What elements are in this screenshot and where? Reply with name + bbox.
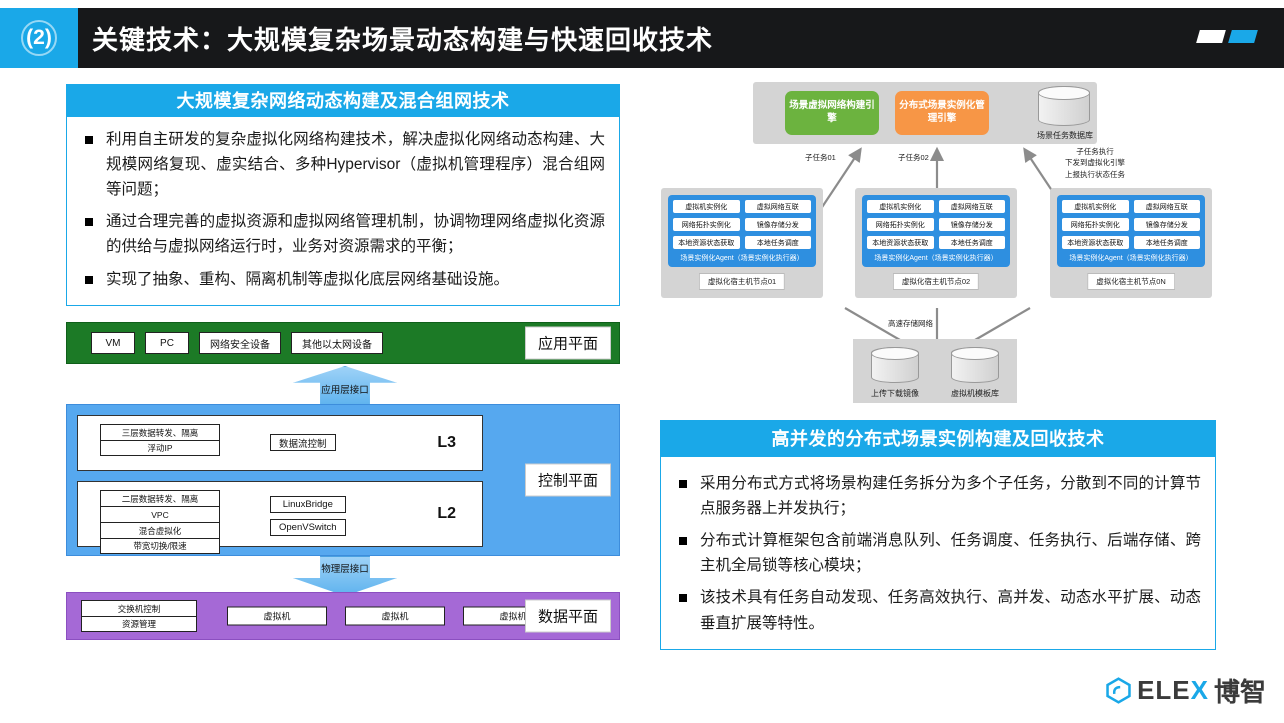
tier-label-l2: L2 xyxy=(437,505,456,523)
bullet-text: 通过合理完善的虚拟资源和虚拟网络管理机制，协调物理网络虚拟化资源的供给与虚拟网络… xyxy=(106,209,605,259)
application-plane-layer: VM PC 网络安全设备 其他以太网设备 应用平面 xyxy=(66,322,620,364)
list-item: 通过合理完善的虚拟资源和虚拟网络管理机制，协调物理网络虚拟化资源的供给与虚拟网络… xyxy=(81,209,605,259)
chip-vm-instantiation: 虚拟机实例化 xyxy=(866,199,935,214)
list-item: 该技术具有任务自动发现、任务高效执行、高并发、动态水平扩展、动态垂直扩展等特性。 xyxy=(675,585,1201,635)
chip-topology-instantiation: 网络拓扑实例化 xyxy=(672,217,741,232)
flow-label-subtask-01: 子任务01 xyxy=(805,152,836,163)
slide-root: (2) 关键技术：大规模复杂场景动态构建与快速回收技术 大规模复杂网络动态构建及… xyxy=(0,0,1284,723)
slide-number-badge: (2) xyxy=(0,8,78,68)
left-info-panel: 大规模复杂网络动态构建及混合组网技术 利用自主研发的复杂虚拟化网络构建技术，解决… xyxy=(66,84,620,306)
bullet-square-icon xyxy=(679,594,687,602)
bullet-square-icon xyxy=(679,480,687,488)
agent-label: 场景实例化Agent（场景实例化执行器） xyxy=(1061,253,1201,263)
storage-network-label: 高速存储网络 xyxy=(888,318,933,329)
tier-label-l3: L3 xyxy=(437,434,456,452)
chip-openvswitch: OpenVSwitch xyxy=(270,519,346,536)
company-logo: ELEX 博智 xyxy=(1105,672,1266,709)
list-item: 采用分布式方式将场景构建任务拆分为多个子任务，分散到不同的计算节点服务器上并发执… xyxy=(675,471,1201,521)
page-title: 关键技术：大规模复杂场景动态构建与快速回收技术 xyxy=(92,8,713,68)
decoration-white-icon xyxy=(1196,30,1226,43)
right-panel-body: 采用分布式方式将场景构建任务拆分为多个子任务，分散到不同的计算节点服务器上并发执… xyxy=(661,457,1215,651)
agent-label: 场景实例化Agent（场景实例化执行器） xyxy=(866,253,1006,263)
chip-local-resource-state: 本地资源状态获取 xyxy=(672,235,741,250)
host-node-group-0n: 虚拟机实例化 虚拟网络互联 网络拓扑实例化 镜像存储分发 本地资源状态获取 本地… xyxy=(1050,188,1212,298)
agent-card: 虚拟机实例化 虚拟网络互联 网络拓扑实例化 镜像存储分发 本地资源状态获取 本地… xyxy=(862,195,1010,267)
header-decoration xyxy=(1198,30,1256,43)
left-panel-title: 大规模复杂网络动态构建及混合组网技术 xyxy=(67,85,619,117)
bullet-square-icon xyxy=(85,218,93,226)
list-item: 分布式计算框架包含前端消息队列、任务调度、任务执行、后端存储、跨主机全局锁等核心… xyxy=(675,528,1201,578)
chip-vnet-interconnect: 虚拟网络互联 xyxy=(1133,199,1202,214)
agent-capability-grid: 虚拟机实例化 虚拟网络互联 网络拓扑实例化 镜像存储分发 本地资源状态获取 本地… xyxy=(672,199,812,250)
agent-capability-grid: 虚拟机实例化 虚拟网络互联 网络拓扑实例化 镜像存储分发 本地资源状态获取 本地… xyxy=(866,199,1006,250)
host-node-label: 虚拟化宿主机节点0N xyxy=(1087,273,1175,290)
chip-topology-instantiation: 网络拓扑实例化 xyxy=(1061,217,1130,232)
slide-number-text: (2) xyxy=(26,26,52,50)
arrow-label: 应用层接口 xyxy=(293,382,397,396)
slide-number-ring: (2) xyxy=(21,20,57,56)
physical-interface-arrow: 物理层接口 xyxy=(293,556,397,596)
elex-mark-icon xyxy=(1105,677,1132,704)
chip-pc: PC xyxy=(145,332,189,354)
l2-left-chips: 二层数据转发、隔离 VPC 混合虚拟化 带宽切换/限速 xyxy=(100,490,220,554)
chip-vnet-interconnect: 虚拟网络互联 xyxy=(744,199,813,214)
chip-linuxbridge: LinuxBridge xyxy=(270,496,346,513)
data-plane-left-chips: 交换机控制 资源管理 xyxy=(81,600,197,632)
decoration-blue-icon xyxy=(1228,30,1258,43)
bullet-text: 该技术具有任务自动发现、任务高效执行、高并发、动态水平扩展、动态垂直扩展等特性。 xyxy=(700,585,1201,635)
chip-vnet-interconnect: 虚拟网络互联 xyxy=(938,199,1007,214)
chip-local-task-schedule: 本地任务调度 xyxy=(744,235,813,250)
chip-bandwidth-limit: 带宽切换/限速 xyxy=(100,538,220,554)
list-item: 利用自主研发的复杂虚拟化网络构建技术，解决虚拟化网络动态构建、大规模网络复现、虚… xyxy=(81,127,605,202)
application-interface-arrow: 应用层接口 xyxy=(293,366,397,406)
storage-band: 上传下载镜像 虚拟机模板库 xyxy=(853,339,1017,403)
vm-template-library-label: 虚拟机模板库 xyxy=(931,388,1019,399)
bullet-text: 采用分布式方式将场景构建任务拆分为多个子任务，分散到不同的计算节点服务器上并发执… xyxy=(700,471,1201,521)
right-info-panel: 高并发的分布式场景实例构建及回收技术 采用分布式方式将场景构建任务拆分为多个子任… xyxy=(660,420,1216,650)
bullet-square-icon xyxy=(85,276,93,284)
chip-switch-control: 交换机控制 xyxy=(81,600,197,616)
chip-vm-instantiation: 虚拟机实例化 xyxy=(1061,199,1130,214)
flow-label-subtask-02: 子任务02 xyxy=(898,152,929,163)
scene-task-database-label: 场景任务数据库 xyxy=(1020,130,1110,141)
chip-floating-ip: 浮动IP xyxy=(100,440,220,456)
logo-text-cn: 博智 xyxy=(1214,672,1266,709)
chip-vm-instantiation: 虚拟机实例化 xyxy=(672,199,741,214)
control-plane-tag: 控制平面 xyxy=(525,464,611,497)
agent-card: 虚拟机实例化 虚拟网络互联 网络拓扑实例化 镜像存储分发 本地资源状态获取 本地… xyxy=(668,195,816,267)
l3-mid-chips: 数据流控制 xyxy=(270,434,336,451)
chip-l3-forward-isolate: 三层数据转发、隔离 xyxy=(100,424,220,440)
bullet-text: 实现了抽象、重构、隔离机制等虚拟化底层网络基础设施。 xyxy=(106,267,605,292)
chip-other-ethernet-device: 其他以太网设备 xyxy=(291,332,383,354)
data-plane-tag: 数据平面 xyxy=(525,600,611,633)
l2-box: 二层数据转发、隔离 VPC 混合虚拟化 带宽切换/限速 LinuxBridge … xyxy=(77,481,483,547)
chip-data-flow-control: 数据流控制 xyxy=(270,434,336,451)
scene-virtual-network-engine: 场景虚拟网络构建引擎 xyxy=(785,91,879,135)
application-plane-chips: VM PC 网络安全设备 其他以太网设备 xyxy=(91,332,383,354)
chip-local-resource-state: 本地资源状态获取 xyxy=(866,235,935,250)
right-panel-title: 高并发的分布式场景实例构建及回收技术 xyxy=(661,421,1215,457)
chip-virtual-machine: 虚拟机 xyxy=(345,607,445,626)
chip-image-distribution: 镜像存储分发 xyxy=(938,217,1007,232)
chip-image-distribution: 镜像存储分发 xyxy=(744,217,813,232)
host-node-group-02: 虚拟机实例化 虚拟网络互联 网络拓扑实例化 镜像存储分发 本地资源状态获取 本地… xyxy=(855,188,1017,298)
chip-virtual-machine: 虚拟机 xyxy=(227,607,327,626)
logo-text-elex: ELEX xyxy=(1137,675,1209,706)
chip-resource-management: 资源管理 xyxy=(81,616,197,632)
chip-vpc: VPC xyxy=(100,506,220,522)
left-panel-body: 利用自主研发的复杂虚拟化网络构建技术，解决虚拟化网络动态构建、大规模网络复现、虚… xyxy=(67,117,619,307)
agent-label: 场景实例化Agent（场景实例化执行器） xyxy=(672,253,812,263)
flow-note-right: 子任务执行 下发到虚拟化引擎 上报执行状态任务 xyxy=(1065,146,1125,180)
image-upload-download-label: 上传下载镜像 xyxy=(851,388,939,399)
l3-box: 三层数据转发、隔离 浮动IP 数据流控制 L3 xyxy=(77,415,483,471)
l3-left-chips: 三层数据转发、隔离 浮动IP xyxy=(100,424,220,456)
chip-network-security-device: 网络安全设备 xyxy=(199,332,281,354)
chip-local-task-schedule: 本地任务调度 xyxy=(938,235,1007,250)
agent-card: 虚拟机实例化 虚拟网络互联 网络拓扑实例化 镜像存储分发 本地资源状态获取 本地… xyxy=(1057,195,1205,267)
chip-local-task-schedule: 本地任务调度 xyxy=(1133,235,1202,250)
host-node-label: 虚拟化宿主机节点01 xyxy=(699,273,785,290)
l2-mid-chips: LinuxBridge OpenVSwitch xyxy=(270,496,346,536)
host-node-label: 虚拟化宿主机节点02 xyxy=(893,273,979,290)
vm-template-library-icon xyxy=(951,347,999,383)
bullet-square-icon xyxy=(679,537,687,545)
host-node-group-01: 虚拟机实例化 虚拟网络互联 网络拓扑实例化 镜像存储分发 本地资源状态获取 本地… xyxy=(661,188,823,298)
chip-image-distribution: 镜像存储分发 xyxy=(1133,217,1202,232)
chip-local-resource-state: 本地资源状态获取 xyxy=(1061,235,1130,250)
bullet-text: 利用自主研发的复杂虚拟化网络构建技术，解决虚拟化网络动态构建、大规模网络复现、虚… xyxy=(106,127,605,202)
bullet-square-icon xyxy=(85,136,93,144)
agent-capability-grid: 虚拟机实例化 虚拟网络互联 网络拓扑实例化 镜像存储分发 本地资源状态获取 本地… xyxy=(1061,199,1201,250)
list-item: 实现了抽象、重构、隔离机制等虚拟化底层网络基础设施。 xyxy=(81,267,605,292)
chip-vm: VM xyxy=(91,332,135,354)
chip-l2-forward-isolate: 二层数据转发、隔离 xyxy=(100,490,220,506)
data-plane-vm-chips: 虚拟机 虚拟机 虚拟机 xyxy=(227,607,563,626)
chip-topology-instantiation: 网络拓扑实例化 xyxy=(866,217,935,232)
bullet-text: 分布式计算框架包含前端消息队列、任务调度、任务执行、后端存储、跨主机全局锁等核心… xyxy=(700,528,1201,578)
arrow-label: 物理层接口 xyxy=(293,561,397,575)
scene-task-database-icon xyxy=(1038,86,1090,126)
chip-hybrid-virtualization: 混合虚拟化 xyxy=(100,522,220,538)
application-plane-tag: 应用平面 xyxy=(525,327,611,360)
control-plane-layer: 三层数据转发、隔离 浮动IP 数据流控制 L3 二层数据转发、隔离 VPC 混合… xyxy=(66,404,620,556)
image-upload-download-icon xyxy=(871,347,919,383)
distributed-scene-instance-engine: 分布式场景实例化管理引擎 xyxy=(895,91,989,135)
data-plane-layer: 交换机控制 资源管理 虚拟机 虚拟机 虚拟机 数据平面 xyxy=(66,592,620,640)
